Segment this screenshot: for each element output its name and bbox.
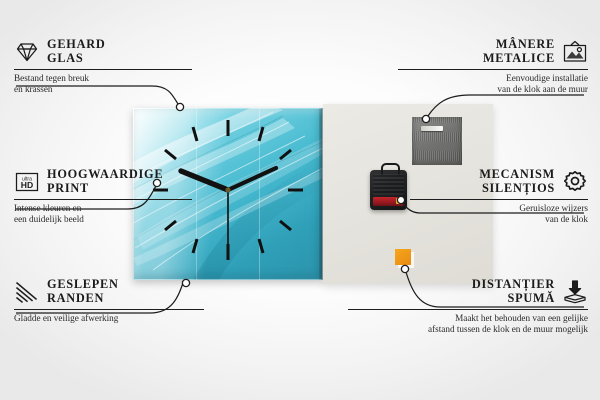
feature-subtitle: Maakt het behouden van een gelijke afsta…: [348, 313, 588, 336]
feature-title: GEHARD GLAS: [47, 38, 105, 65]
feature-manere-metalice: MÂNERE METALICE Eenvoudige installatie v…: [398, 38, 588, 96]
feature-subtitle: Gladde en veilige afwerking: [14, 313, 204, 324]
diamond-icon: [14, 39, 40, 65]
feature-rule: [410, 199, 588, 200]
feature-title: HOOGWAARDIGE PRINT: [47, 168, 163, 195]
beveled-edges-icon: [14, 279, 40, 305]
feature-title: MECANISM SILENȚIOS: [479, 168, 555, 195]
feature-rule: [348, 309, 588, 310]
feature-rule: [14, 69, 192, 70]
feature-rule: [398, 69, 588, 70]
feature-rule: [14, 199, 192, 200]
feature-subtitle: Eenvoudige installatie van de klok aan d…: [398, 73, 588, 96]
infographic-canvas: GEHARD GLAS Bestand tegen breuk en krass…: [0, 0, 600, 400]
feature-distantier-spuma: DISTANȚIER SPUMĂ Maakt het behouden van …: [348, 278, 588, 336]
feature-title: DISTANȚIER SPUMĂ: [472, 278, 555, 305]
spacer-arrow-icon: [562, 279, 588, 305]
gear-icon: [562, 169, 588, 195]
feature-gehard-glas: GEHARD GLAS Bestand tegen breuk en krass…: [14, 38, 192, 96]
feature-geslepen-randen: GESLEPEN RANDEN Gladde en veilige afwerk…: [14, 278, 204, 324]
feature-title: MÂNERE METALICE: [483, 38, 555, 65]
feature-mecanism-silentios: MECANISM SILENȚIOS Geruisloze wijzers va…: [410, 168, 588, 226]
connector-endpoints: [153, 103, 429, 286]
feature-subtitle: Geruisloze wijzers van de klok: [410, 203, 588, 226]
feature-rule: [14, 309, 204, 310]
feature-subtitle: Intense kleuren en een duidelijk beeld: [14, 203, 192, 226]
ultra-hd-icon: ultra HD: [14, 169, 40, 195]
picture-hanger-icon: [562, 39, 588, 65]
feature-hoogwaardige-print: ultra HD HOOGWAARDIGE PRINT Intense kleu…: [14, 168, 192, 226]
svg-text:HD: HD: [21, 180, 33, 190]
feature-title: GESLEPEN RANDEN: [47, 278, 119, 305]
feature-subtitle: Bestand tegen breuk en krassen: [14, 73, 192, 96]
